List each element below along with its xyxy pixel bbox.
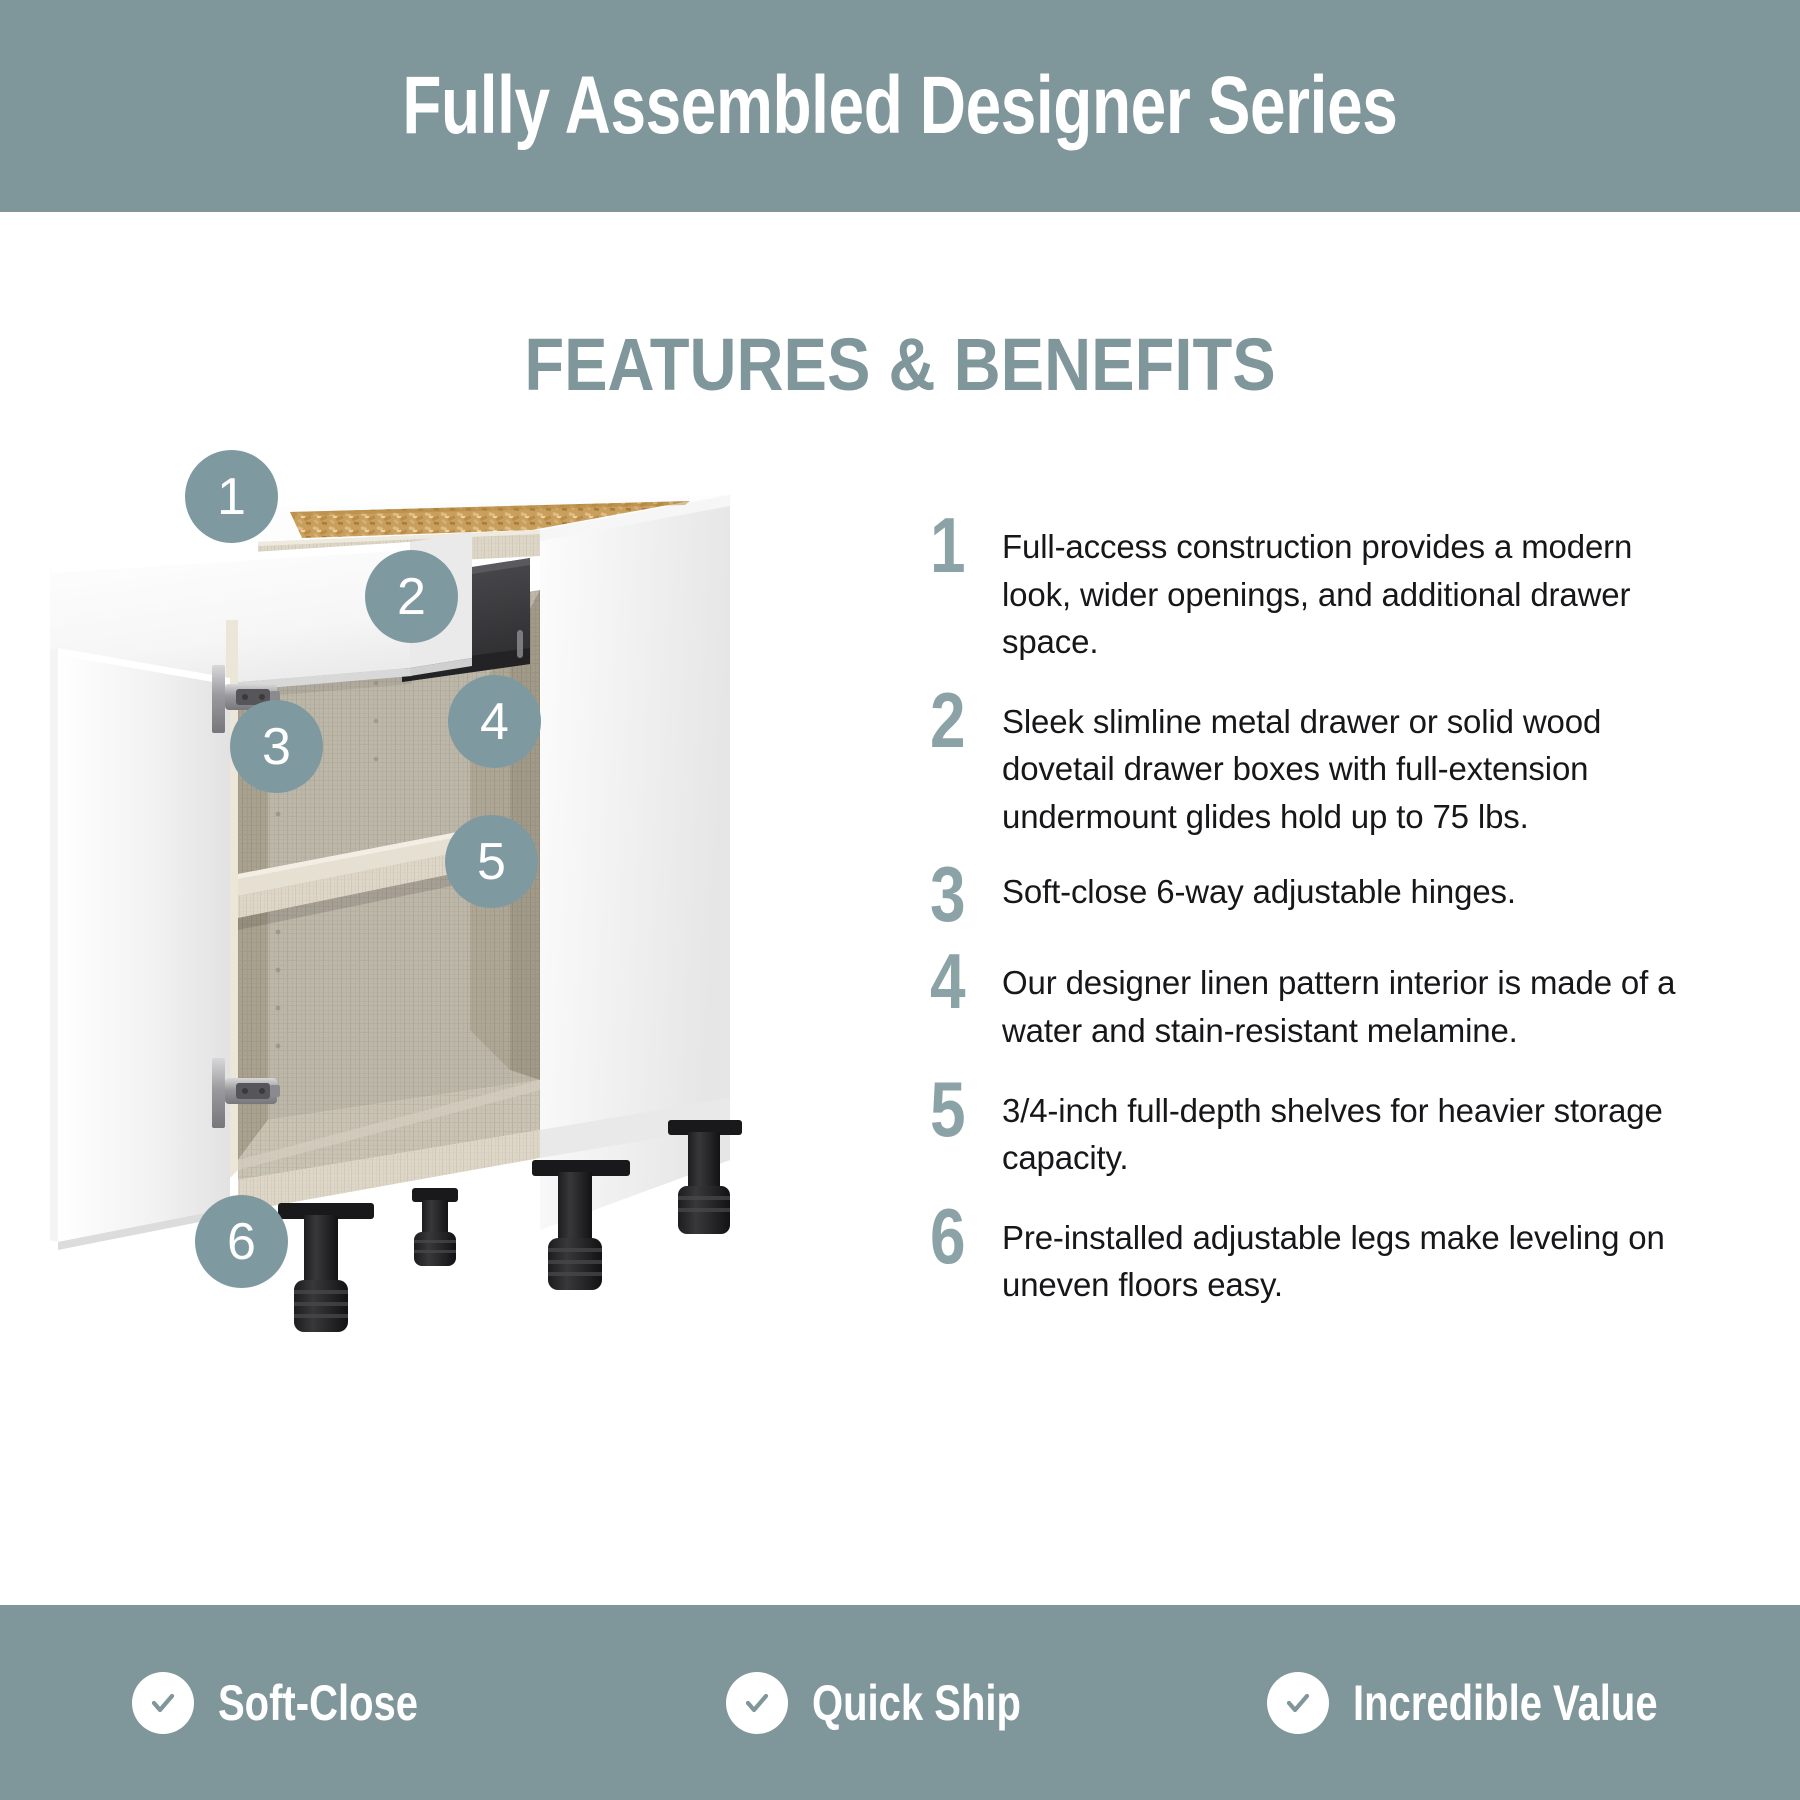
callout-2[interactable]: 2 — [365, 550, 458, 643]
feature-number-2: 2 — [930, 685, 989, 754]
footer-badge-soft-close: Soft-Close — [0, 1672, 600, 1734]
feature-item-5: 5 3/4-inch full-depth shelves for heavie… — [930, 1074, 1720, 1183]
check-icon — [132, 1672, 194, 1734]
footer-badge-incredible-value: Incredible Value — [1200, 1672, 1800, 1734]
callout-5[interactable]: 5 — [445, 815, 538, 908]
header-bar: Fully Assembled Designer Series — [0, 0, 1800, 212]
cabinet-door — [50, 648, 230, 1250]
callout-6[interactable]: 6 — [195, 1195, 288, 1288]
footer-badge-label-1: Soft-Close — [218, 1674, 418, 1732]
page-title: Fully Assembled Designer Series — [402, 59, 1397, 153]
callout-1[interactable]: 1 — [185, 450, 278, 543]
feature-item-3: 3 Soft-close 6-way adjustable hinges. — [930, 859, 1720, 928]
feature-text-6: Pre-installed adjustable legs make level… — [1002, 1201, 1709, 1310]
feature-text-2: Sleek slimline metal drawer or solid woo… — [1002, 685, 1709, 842]
check-icon — [726, 1672, 788, 1734]
footer-bar: Soft-Close Quick Ship Incredible Value — [0, 1605, 1800, 1800]
feature-item-2: 2 Sleek slimline metal drawer or solid w… — [930, 685, 1720, 842]
feature-text-3: Soft-close 6-way adjustable hinges. — [1002, 859, 1709, 917]
feature-text-4: Our designer linen pattern interior is m… — [1002, 946, 1709, 1055]
callout-4[interactable]: 4 — [448, 675, 541, 768]
product-image: 1 2 3 4 5 6 — [40, 470, 920, 1470]
cabinet-illustration — [40, 470, 920, 1470]
feature-number-1: 1 — [930, 510, 989, 579]
feature-number-6: 6 — [930, 1201, 989, 1270]
footer-badge-quick-ship: Quick Ship — [600, 1672, 1200, 1734]
callout-3[interactable]: 3 — [230, 700, 323, 793]
adjustable-leg-front-left — [278, 1203, 374, 1332]
adjustable-leg-back-left — [412, 1188, 458, 1266]
feature-item-1: 1 Full-access construction provides a mo… — [930, 510, 1720, 667]
feature-item-6: 6 Pre-installed adjustable legs make lev… — [930, 1201, 1720, 1310]
footer-badge-label-3: Incredible Value — [1353, 1674, 1658, 1732]
feature-item-4: 4 Our designer linen pattern interior is… — [930, 946, 1720, 1055]
feature-text-5: 3/4-inch full-depth shelves for heavier … — [1002, 1074, 1709, 1183]
feature-number-3: 3 — [930, 859, 989, 928]
feature-number-4: 4 — [930, 946, 989, 1015]
footer-badge-label-2: Quick Ship — [812, 1674, 1021, 1732]
section-heading: FEATURES & BENEFITS — [108, 322, 1692, 407]
feature-list: 1 Full-access construction provides a mo… — [930, 510, 1720, 1328]
feature-number-5: 5 — [930, 1074, 989, 1143]
feature-text-1: Full-access construction provides a mode… — [1002, 510, 1709, 667]
check-icon — [1267, 1672, 1329, 1734]
drawer-glide — [517, 630, 523, 658]
